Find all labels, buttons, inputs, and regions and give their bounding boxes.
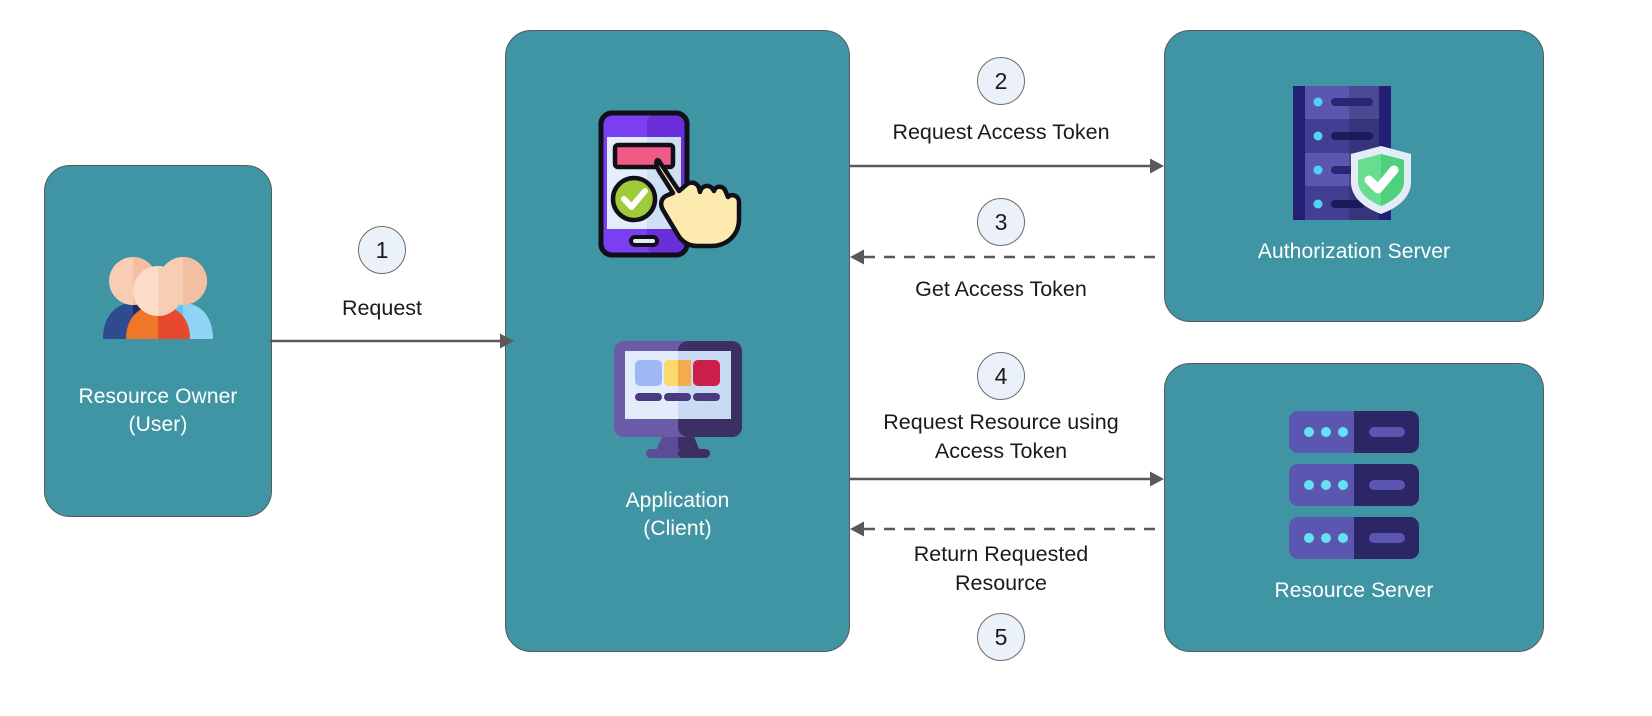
- step-number-text: 3: [995, 209, 1008, 236]
- server-stack-icon: [1289, 411, 1419, 559]
- connector-label-4: Request Resource using Access Token: [861, 408, 1141, 466]
- step-number-text: 4: [995, 363, 1008, 390]
- owner-label-line1: Resource Owner: [79, 385, 238, 408]
- entity-label: Resource Server: [1274, 577, 1433, 605]
- entity-label: Authorization Server: [1258, 238, 1450, 266]
- app-label-line2: (Client): [643, 517, 711, 540]
- arrow-return-resource: [850, 518, 1164, 540]
- step-number-text: 2: [995, 68, 1008, 95]
- step-number-text: 5: [995, 624, 1008, 651]
- step-number-4: 4: [977, 352, 1025, 400]
- entity-resource-server[interactable]: Resource Server: [1164, 363, 1544, 652]
- diagram-canvas: Resource Owner (User): [0, 0, 1652, 716]
- owner-label-line2: (User): [129, 413, 188, 436]
- entity-resource-owner[interactable]: Resource Owner (User): [44, 165, 272, 517]
- connector-label-1: Request: [282, 294, 482, 323]
- entity-label: Application (Client): [626, 487, 730, 543]
- connector-label-5: Return Requested Resource: [861, 540, 1141, 598]
- step-number-text: 1: [376, 237, 389, 264]
- arrow-get-access-token: [850, 246, 1164, 268]
- entity-label: Resource Owner (User): [79, 383, 238, 439]
- arrow-request-resource: [850, 468, 1164, 490]
- app-label-line1: Application: [626, 489, 730, 512]
- step-number-1: 1: [358, 226, 406, 274]
- mobile-tap-approve-icon: [593, 109, 763, 259]
- connector-label-2: Request Access Token: [861, 118, 1141, 147]
- desktop-monitor-icon: [612, 339, 744, 459]
- step-number-2: 2: [977, 57, 1025, 105]
- step-number-3: 3: [977, 198, 1025, 246]
- people-group-icon: [93, 247, 223, 339]
- server-rack-shield-check-icon: [1293, 86, 1415, 220]
- arrow-request-access-token: [850, 155, 1164, 177]
- connector-label-3: Get Access Token: [861, 275, 1141, 304]
- step-number-5: 5: [977, 613, 1025, 661]
- entity-application[interactable]: Application (Client): [505, 30, 850, 652]
- arrow-request: [270, 330, 514, 352]
- entity-authorization-server[interactable]: Authorization Server: [1164, 30, 1544, 322]
